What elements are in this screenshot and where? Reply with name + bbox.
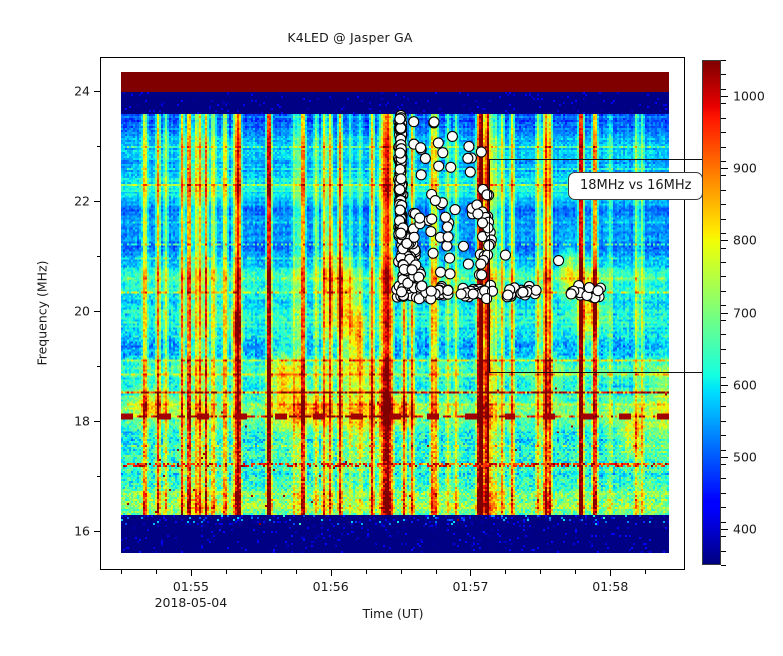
colorbar-tick-minor: [721, 161, 726, 162]
annotation-label: 18MHz vs 16MHz: [568, 172, 703, 200]
colorbar-tick-minor: [721, 262, 726, 263]
x-tick-minor: [121, 569, 122, 574]
y-tick-major: [94, 91, 101, 92]
y-tick-label: 20: [74, 304, 90, 319]
colorbar-tick-minor: [721, 118, 726, 119]
colorbar-tick-major: [721, 313, 728, 314]
x-tick-minor: [296, 569, 297, 574]
colorbar-tick-minor: [721, 291, 726, 292]
x-tick-minor: [261, 569, 262, 574]
page-title: K4LED @ Jasper GA: [0, 30, 700, 45]
x-tick-major: [191, 569, 192, 576]
colorbar-tick-minor: [721, 392, 726, 393]
y-tick-label: 18: [74, 414, 90, 429]
colorbar-tick-minor: [721, 248, 726, 249]
spectrogram-raster: [121, 72, 669, 553]
y-tick-minor: [97, 256, 102, 257]
colorbar-tick-label: 500: [733, 449, 757, 464]
colorbar-tick-minor: [721, 493, 726, 494]
x-tick-label: 01:56: [313, 579, 349, 594]
x-tick-label: 01:57: [452, 579, 488, 594]
colorbar-tick-minor: [721, 147, 726, 148]
colorbar-tick-minor: [721, 421, 726, 422]
colorbar-tick-minor: [721, 522, 726, 523]
colorbar: [702, 60, 721, 565]
colorbar-tick-major: [721, 168, 728, 169]
y-tick-minor: [97, 476, 102, 477]
y-tick-major: [94, 531, 101, 532]
colorbar-tick-label: 400: [733, 521, 757, 536]
colorbar-tick-minor: [721, 60, 726, 61]
colorbar-tick-minor: [721, 565, 726, 566]
x-tick-minor: [645, 569, 646, 574]
colorbar-ticks: 4005006007008009001000: [721, 60, 781, 565]
y-tick-major: [94, 311, 101, 312]
colorbar-tick-minor: [721, 305, 726, 306]
y-tick-label: 16: [74, 524, 90, 539]
colorbar-tick-major: [721, 96, 728, 97]
colorbar-tick-minor: [721, 450, 726, 451]
plot-axes[interactable]: 18MHz vs 16MHz 1618202224 01:552018-05-0…: [100, 57, 685, 570]
x-tick-minor: [401, 569, 402, 574]
colorbar-tick-major: [721, 385, 728, 386]
colorbar-tick-minor: [721, 377, 726, 378]
colorbar-tick-minor: [721, 349, 726, 350]
x-tick-major: [331, 569, 332, 576]
colorbar-tick-major: [721, 457, 728, 458]
figure-canvas: K4LED @ Jasper GA 18MHz vs 16MHz 1618202…: [0, 0, 783, 656]
colorbar-tick-minor: [721, 132, 726, 133]
y-tick-major: [94, 421, 101, 422]
x-tick-minor: [436, 569, 437, 574]
colorbar-tick-label: 800: [733, 233, 757, 248]
colorbar-tick-minor: [721, 219, 726, 220]
colorbar-tick-label: 900: [733, 161, 757, 176]
colorbar-tick-minor: [721, 204, 726, 205]
x-tick-minor: [575, 569, 576, 574]
colorbar-tick-minor: [721, 334, 726, 335]
colorbar-tick-label: 1000: [733, 89, 765, 104]
colorbar-tick-minor: [721, 103, 726, 104]
colorbar-tick-label: 700: [733, 305, 757, 320]
colorbar-tick-minor: [721, 507, 726, 508]
colorbar-tick-major: [721, 240, 728, 241]
colorbar-tick-minor: [721, 478, 726, 479]
y-tick-label: 22: [74, 194, 90, 209]
colorbar-tick-major: [721, 529, 728, 530]
x-tick-major: [610, 569, 611, 576]
y-tick-major: [94, 201, 101, 202]
y-axis-label: Frequency (MHz): [35, 260, 50, 365]
x-axis-date-label: 2018-05-04: [155, 595, 228, 610]
y-tick-minor: [97, 366, 102, 367]
colorbar-tick-minor: [721, 406, 726, 407]
x-tick-label: 01:58: [592, 579, 628, 594]
colorbar-tick-minor: [721, 551, 726, 552]
colorbar-tick-minor: [721, 233, 726, 234]
colorbar-tick-minor: [721, 320, 726, 321]
colorbar-tick-minor: [721, 435, 726, 436]
x-tick-minor: [540, 569, 541, 574]
x-tick-minor: [366, 569, 367, 574]
x-tick-minor: [156, 569, 157, 574]
x-tick-major: [470, 569, 471, 576]
colorbar-tick-label: 600: [733, 377, 757, 392]
y-tick-label: 24: [74, 84, 90, 99]
x-tick-minor: [505, 569, 506, 574]
colorbar-tick-minor: [721, 363, 726, 364]
colorbar-tick-minor: [721, 175, 726, 176]
x-axis-label: Time (UT): [362, 606, 423, 621]
x-tick-label: 01:55: [173, 579, 209, 594]
colorbar-tick-minor: [721, 536, 726, 537]
colorbar-tick-minor: [721, 190, 726, 191]
colorbar-tick-minor: [721, 89, 726, 90]
colorbar-tick-minor: [721, 464, 726, 465]
colorbar-tick-minor: [721, 276, 726, 277]
x-tick-minor: [226, 569, 227, 574]
colorbar-tick-minor: [721, 74, 726, 75]
y-tick-minor: [97, 146, 102, 147]
